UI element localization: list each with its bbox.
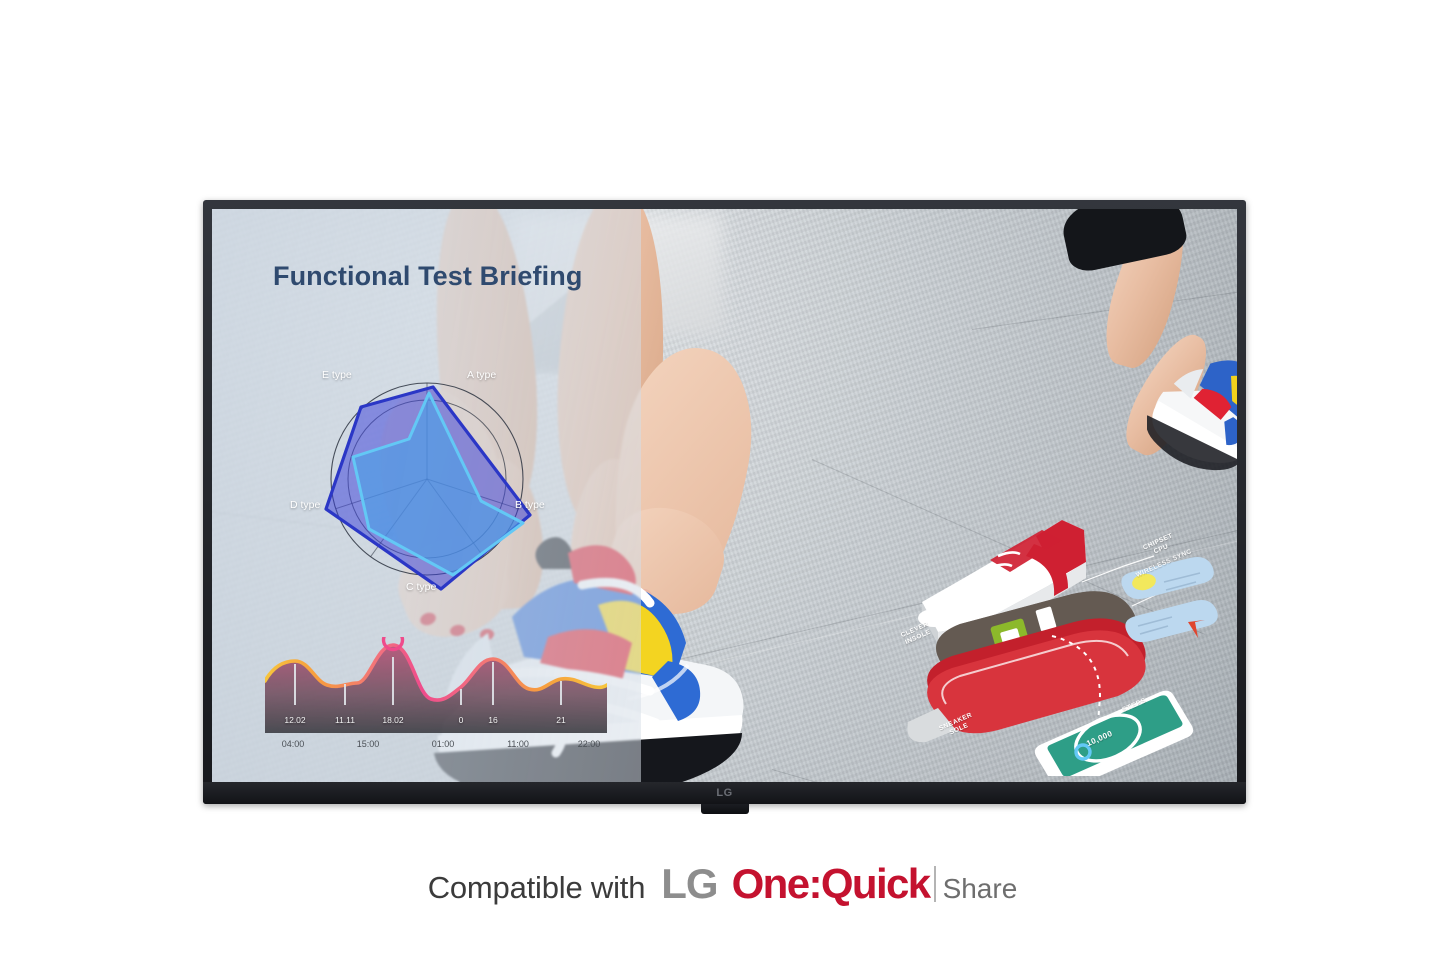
sneaker-tech-infographic: CHIPSET CPU CLEVER INSOLE SNEAKER SOLE W…: [886, 486, 1231, 776]
area-time-label: 01:00: [432, 739, 455, 749]
area-time-label: 22:00: [578, 739, 601, 749]
tv-screen: Functional Test Briefing: [212, 209, 1237, 782]
compatible-with-text: Compatible with: [428, 870, 646, 906]
tv-stand: [701, 804, 749, 814]
radar-axis-label-b: B type: [515, 499, 545, 511]
radar-axis-label-d: D type: [290, 499, 320, 511]
brand-separator: [934, 866, 936, 902]
area-time-label: 15:00: [357, 739, 380, 749]
area-chart: 12.02 11.11 18.02 0 16 21 04:00 15:00 01…: [265, 637, 607, 761]
radar-chart: A type B type C type D type E type: [300, 359, 555, 604]
one-quick-wordmark: One:Quick: [732, 860, 930, 908]
area-value-label: 11.11: [335, 715, 355, 725]
area-value-label: 16: [488, 715, 497, 725]
area-value-label: 18.02: [382, 715, 403, 725]
page-title: Functional Test Briefing: [273, 261, 582, 292]
radar-axis-label-c: C type: [406, 581, 436, 593]
area-value-label: 12.02: [284, 715, 305, 725]
area-time-label: 04:00: [282, 739, 305, 749]
radar-axis-label-e: E type: [322, 369, 352, 381]
tv-bottom-bezel: LG: [203, 782, 1246, 804]
area-value-label: 21: [556, 715, 565, 725]
branding-lockup: Compatible with LG One:Quick Share: [0, 860, 1445, 908]
background-running-shoe: [1147, 314, 1237, 484]
area-time-label: 11:00: [507, 739, 529, 749]
lg-wordmark: LG: [661, 860, 717, 908]
radar-axis-label-a: A type: [467, 369, 496, 381]
lg-bezel-logo: LG: [716, 788, 732, 799]
share-wordmark: Share: [943, 873, 1018, 905]
area-value-label: 0: [459, 715, 464, 725]
lg-display-device: Functional Test Briefing: [203, 200, 1246, 804]
presentation-overlay: Functional Test Briefing: [212, 209, 641, 782]
screenshot-root: Functional Test Briefing: [0, 0, 1445, 959]
